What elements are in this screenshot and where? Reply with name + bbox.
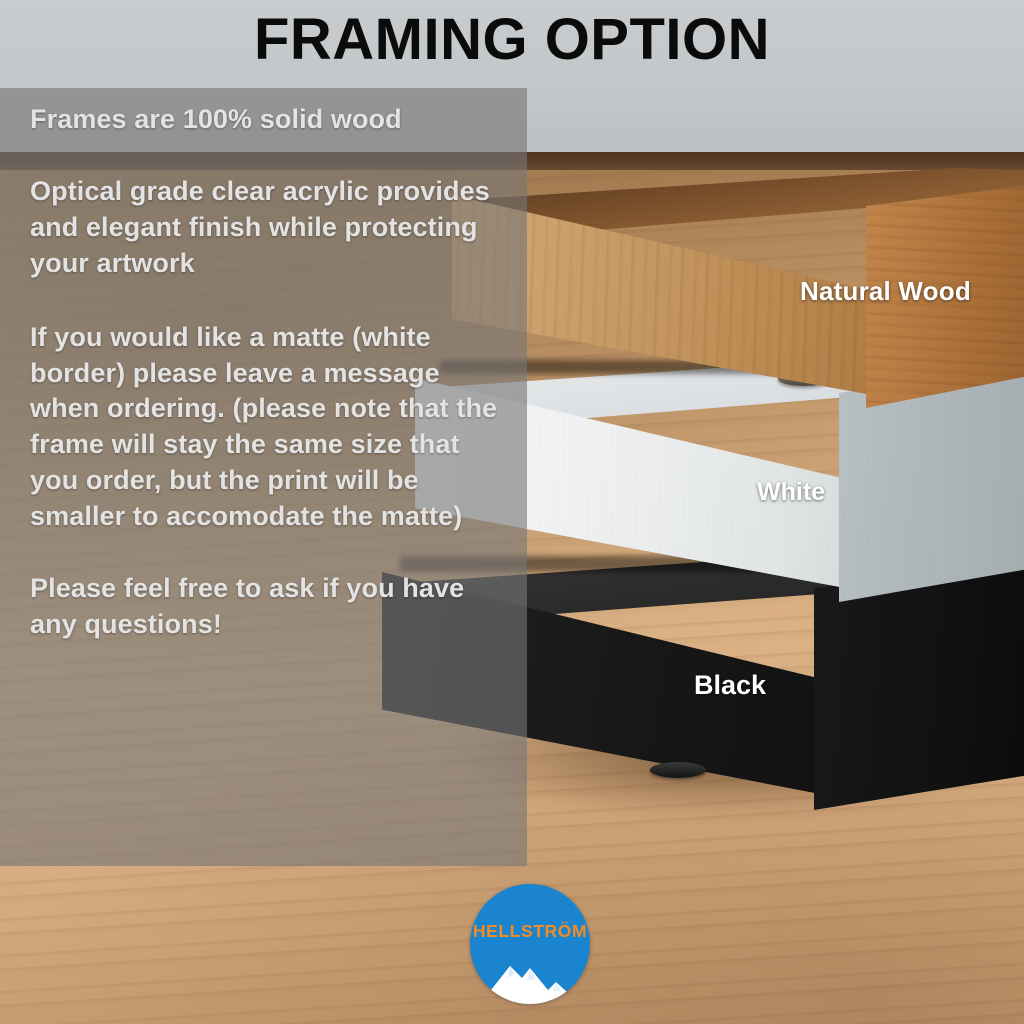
black-frame-side-face: [814, 566, 1024, 810]
hellstrom-logo: HELLSTRÖM: [470, 884, 590, 1004]
overlay-paragraph-1: Frames are 100% solid wood: [30, 102, 505, 138]
overlay-paragraph-4: Please feel free to ask if you have any …: [30, 571, 505, 643]
frame-label-black: Black: [694, 670, 766, 701]
framing-option-infographic: Natural Wood White Black FRAMING OPTION …: [0, 0, 1024, 1024]
frame-label-natural-wood: Natural Wood: [800, 276, 971, 307]
logo-brand-text: HELLSTRÖM: [470, 921, 590, 942]
mountain-icon: [470, 948, 590, 1004]
overlay-paragraph-3: If you would like a matte (white border)…: [30, 320, 505, 535]
overlay-paragraph-2: Optical grade clear acrylic provides and…: [30, 174, 505, 282]
page-title: FRAMING OPTION: [0, 6, 1024, 73]
frame-foot: [650, 762, 706, 778]
frame-label-white: White: [757, 478, 825, 507]
info-overlay-text: Frames are 100% solid wood Optical grade…: [0, 88, 527, 866]
